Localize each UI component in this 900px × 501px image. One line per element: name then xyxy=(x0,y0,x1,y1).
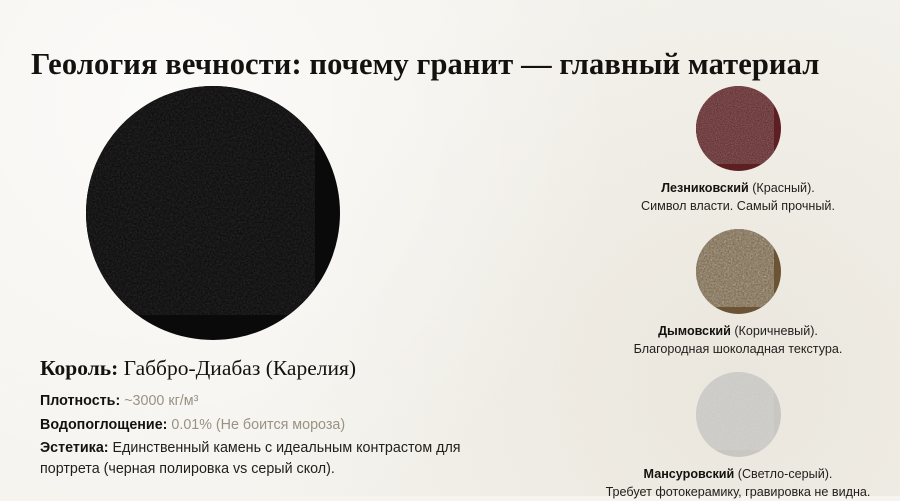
spec-density-label: Плотность: xyxy=(40,393,120,409)
spec-water-absorption-value: 0.01% (Не боится мороза) xyxy=(167,417,345,433)
sample-swatch-dymovsky xyxy=(696,229,781,314)
sample-name-dymovsky: Дымовский xyxy=(658,324,731,338)
hero-info-block: Король: Габбро-Диабаз (Карелия) Плотност… xyxy=(40,355,510,479)
king-label: Король: xyxy=(40,356,118,380)
sample-color-note-mansurovsky: (Светло-серый). xyxy=(734,467,832,481)
sample-color-note-dymovsky: (Коричневый). xyxy=(731,324,818,338)
sample-swatch-leznikovsky xyxy=(696,86,781,171)
sample-item-leznikovsky: Лезниковский (Красный). Символ власти. С… xyxy=(588,86,888,215)
sample-swatch-mansurovsky xyxy=(696,372,781,457)
sample-name-leznikovsky: Лезниковский xyxy=(661,181,749,195)
spec-aesthetic-label: Эстетика: xyxy=(40,440,109,456)
spec-aesthetic: Эстетика: Единственный камень с идеальны… xyxy=(40,438,470,479)
sample-description-mansurovsky: Требует фотокерамику, гравировка не видн… xyxy=(588,484,888,501)
sample-caption-dymovsky: Дымовский (Коричневый). Благородная шоко… xyxy=(588,323,888,358)
spec-water-absorption-label: Водопоглощение: xyxy=(40,417,167,433)
sample-name-mansurovsky: Мансуровский xyxy=(644,467,735,481)
sample-caption-leznikovsky: Лезниковский (Красный). Символ власти. С… xyxy=(588,180,888,215)
grey-granite-texture xyxy=(696,372,774,450)
king-value: Габбро-Диабаз (Карелия) xyxy=(118,356,356,380)
sample-item-dymovsky: Дымовский (Коричневый). Благородная шоко… xyxy=(588,229,888,358)
brown-granite-texture xyxy=(696,229,774,307)
hero-granite-texture xyxy=(86,86,315,315)
page-title: Геология вечности: почему гранит — главн… xyxy=(31,46,871,82)
sample-list: Лезниковский (Красный). Символ власти. С… xyxy=(588,86,888,501)
sample-item-mansurovsky: Мансуровский (Светло-серый). Требует фот… xyxy=(588,372,888,501)
king-line: Король: Габбро-Диабаз (Карелия) xyxy=(40,355,510,382)
spec-density: Плотность: ~3000 кг/м³ xyxy=(40,391,510,413)
spec-water-absorption: Водопоглощение: 0.01% (Не боится мороза) xyxy=(40,415,510,437)
sample-description-leznikovsky: Символ власти. Самый прочный. xyxy=(588,198,888,216)
red-granite-texture xyxy=(696,86,774,164)
hero-granite-swatch xyxy=(86,86,340,340)
sample-description-dymovsky: Благородная шоколадная текстура. xyxy=(588,341,888,359)
sample-color-note-leznikovsky: (Красный). xyxy=(749,181,815,195)
slide-background: Геология вечности: почему гранит — главн… xyxy=(0,0,900,496)
spec-density-value: ~3000 кг/м³ xyxy=(120,393,198,409)
